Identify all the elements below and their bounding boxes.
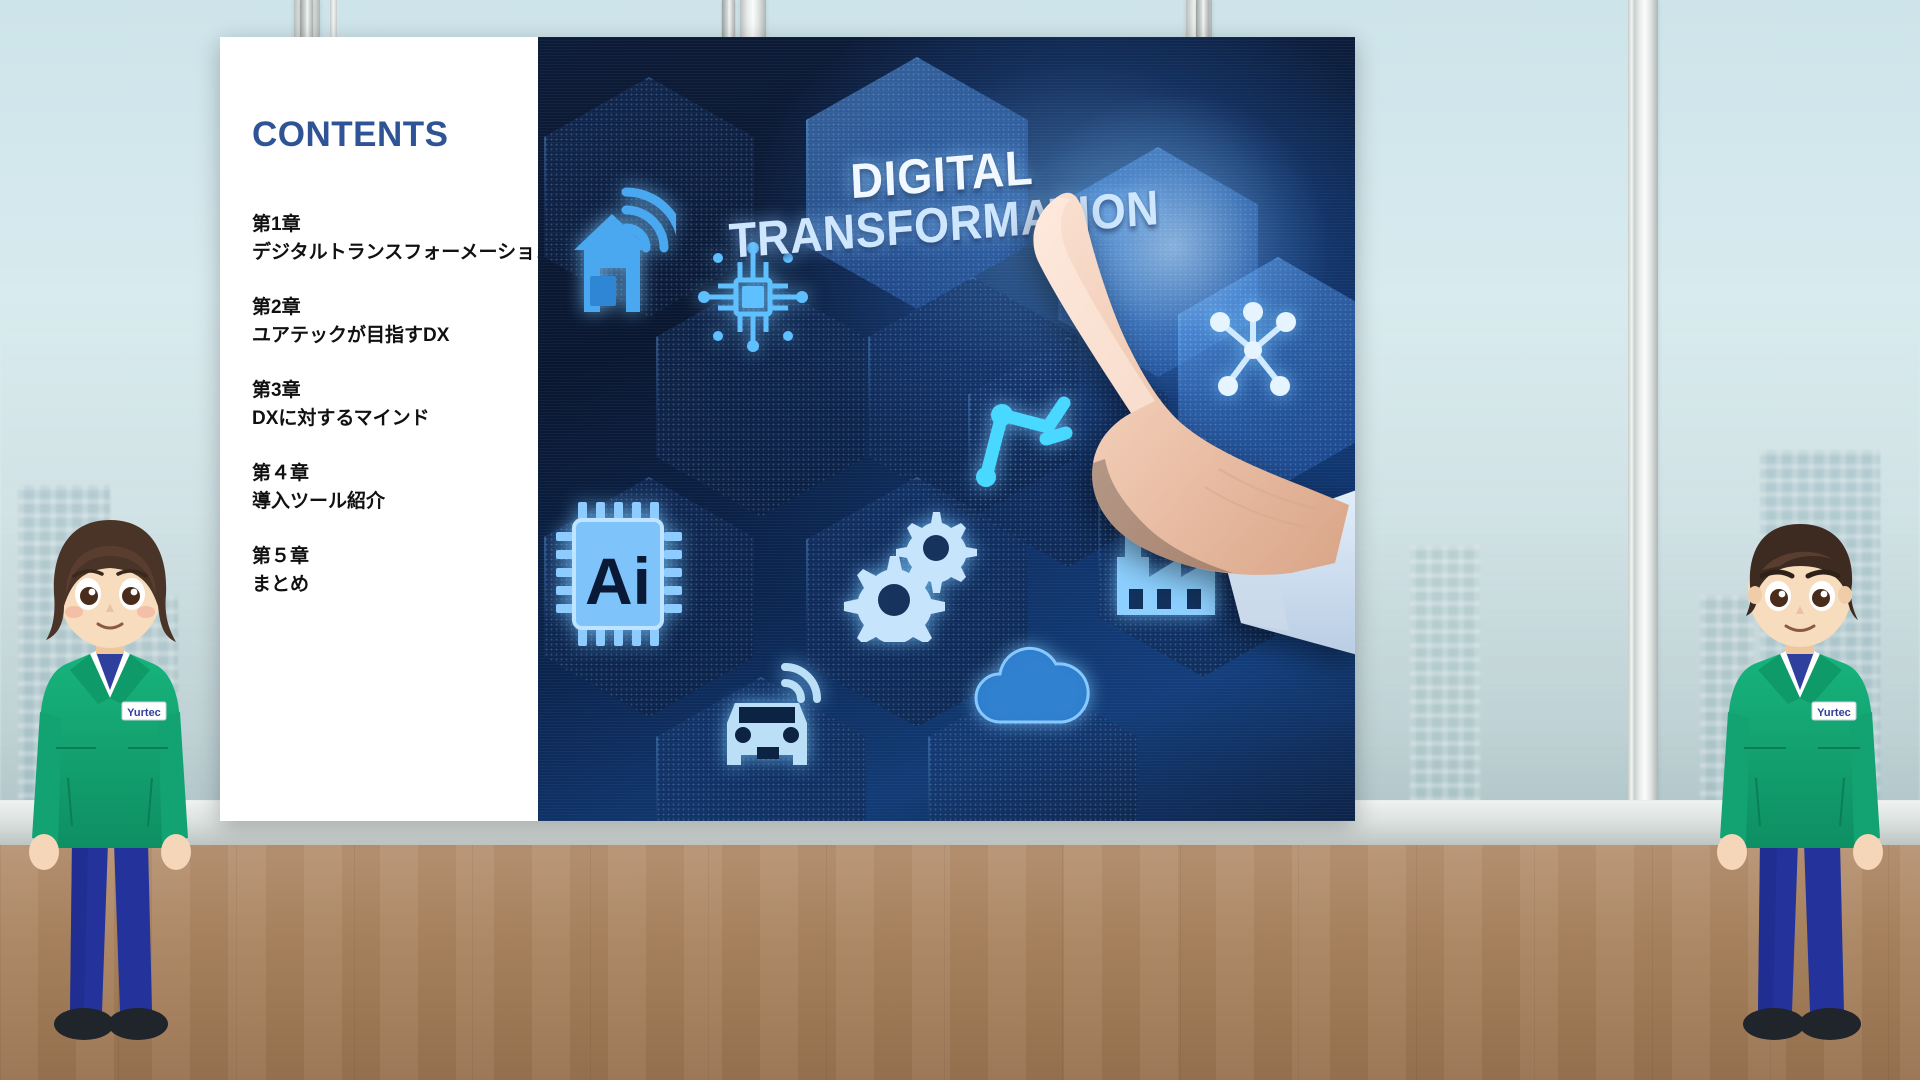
presentation-slide[interactable]: CONTENTS 第1章 デジタルトランスフォーメーション 第2章 ユアテックが… xyxy=(220,37,1355,821)
chapter-number: 第４章 xyxy=(252,460,538,488)
wooden-floor xyxy=(0,845,1920,1080)
list-item[interactable]: 第1章 デジタルトランスフォーメーション xyxy=(252,211,538,266)
chapter-number: 第1章 xyxy=(252,211,538,239)
chapter-label: ユアテックが目指すDX xyxy=(252,322,538,350)
list-item[interactable]: 第５章 まとめ xyxy=(252,543,538,598)
chapter-number: 第５章 xyxy=(252,543,538,571)
chapter-number: 第3章 xyxy=(252,377,538,405)
hexagon-cell xyxy=(544,77,754,317)
chapter-label: まとめ xyxy=(252,571,538,599)
list-item[interactable]: 第４章 導入ツール紹介 xyxy=(252,460,538,515)
window-mullion xyxy=(1628,0,1635,845)
badge-text: Yurtec xyxy=(127,707,161,719)
window-mullion xyxy=(1632,0,1658,845)
hanging-rod xyxy=(1196,0,1209,42)
hexagon-cell xyxy=(544,477,754,717)
character-male-staff: Yurtec xyxy=(1700,512,1900,1072)
table-of-contents: 第1章 デジタルトランスフォーメーション 第2章 ユアテックが目指すDX 第3章… xyxy=(248,211,538,598)
chapter-label: デジタルトランスフォーメーション xyxy=(252,239,538,267)
hexagon-cell xyxy=(656,277,866,517)
list-item[interactable]: 第2章 ユアテックが目指すDX xyxy=(252,294,538,349)
chapter-label: 導入ツール紹介 xyxy=(252,488,538,516)
chapter-number: 第2章 xyxy=(252,294,538,322)
dx-hero-image: DIGITAL TRANSFORMATION xyxy=(538,37,1355,821)
character-female-staff: Yurtec xyxy=(10,512,210,1072)
hexagon-cell xyxy=(806,57,1028,309)
page-title: CONTENTS xyxy=(248,115,538,155)
list-item[interactable]: 第3章 DXに対するマインド xyxy=(252,377,538,432)
chapter-label: DXに対するマインド xyxy=(252,405,538,433)
hanging-rod xyxy=(722,0,735,42)
badge-text: Yurtec xyxy=(1817,707,1851,719)
hanging-rod xyxy=(300,0,313,42)
contents-panel: CONTENTS 第1章 デジタルトランスフォーメーション 第2章 ユアテックが… xyxy=(220,37,538,821)
hexagon-cell xyxy=(656,677,866,821)
